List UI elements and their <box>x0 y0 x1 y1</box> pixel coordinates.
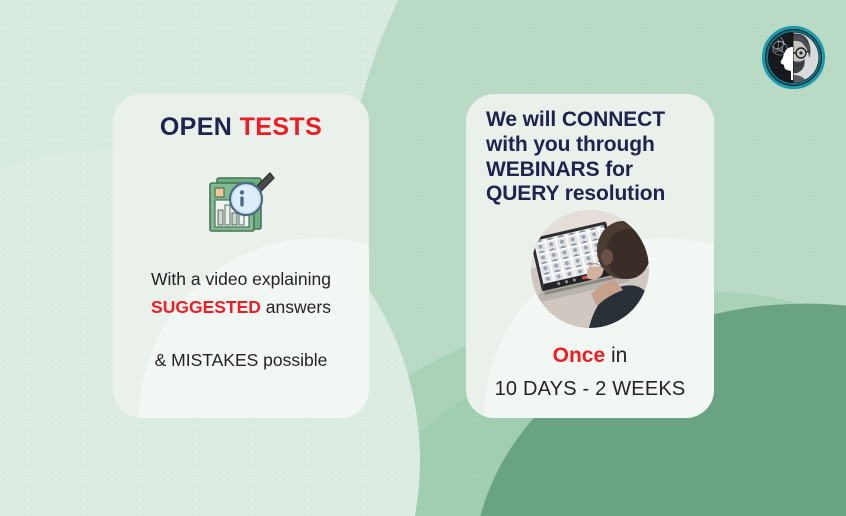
left-card-title-open: OPEN <box>160 113 240 141</box>
left-card-line-3: & MISTAKES possible <box>123 347 359 374</box>
right-card-interval: 10 DAYS - 2 WEEKS <box>472 374 708 404</box>
card-open-tests: OPEN TESTS <box>113 94 369 418</box>
slide-canvas: OPEN TESTS <box>0 0 846 516</box>
suggested-highlight: SUGGESTED <box>151 297 261 317</box>
webinar-photo <box>531 210 649 328</box>
right-card-headline: We will CONNECT with you through WEBINAR… <box>486 108 700 207</box>
left-card-title: OPEN TESTS <box>113 114 369 142</box>
left-card-body: With a video explaining SUGGESTED answer… <box>123 266 359 374</box>
in-text: in <box>605 344 627 367</box>
once-highlight: Once <box>553 344 606 367</box>
right-card-frequency: Once in <box>472 340 708 372</box>
document-magnifier-icon <box>113 166 369 236</box>
left-card-line-1: With a video explaining <box>123 266 359 293</box>
right-card-footer: Once in 10 DAYS - 2 WEEKS <box>472 340 708 404</box>
left-card-title-tests: TESTS <box>240 113 323 141</box>
left-card-line-2: SUGGESTED answers <box>123 294 359 321</box>
card-webinars: We will CONNECT with you through WEBINAR… <box>466 94 714 418</box>
answers-text: answers <box>261 297 331 317</box>
brand-logo[interactable] <box>761 25 826 90</box>
